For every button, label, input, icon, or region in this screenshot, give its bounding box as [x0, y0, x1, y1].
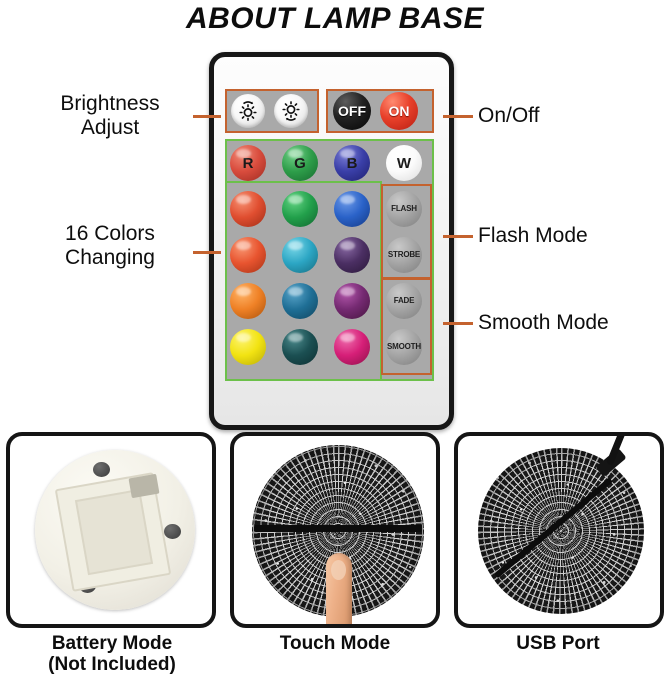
callout-brightness-line2: Adjust	[30, 116, 190, 140]
lead-onoff	[443, 115, 473, 118]
battery-mode-caption-line2: (Not Included)	[0, 655, 224, 676]
power-group-box	[326, 89, 434, 133]
remote-control: OFF ON R G B W FLASH STROBE FADE SMOOTH	[209, 52, 454, 430]
battery-base-image	[35, 450, 195, 610]
usb-port-caption: USB Port	[446, 634, 670, 655]
smooth-group-box	[381, 278, 432, 375]
callout-smooth: Smooth Mode	[478, 311, 609, 335]
callout-flash: Flash Mode	[478, 224, 588, 248]
battery-slot	[75, 489, 153, 575]
callout-onoff: On/Off	[478, 104, 539, 128]
lead-colors	[193, 251, 221, 254]
battery-mode-panel	[6, 432, 216, 628]
callout-colors: 16 Colors Changing	[30, 222, 190, 270]
battery-mode-caption: Battery Mode (Not Included)	[0, 634, 224, 676]
touch-mode-caption: Touch Mode	[223, 634, 447, 655]
lead-brightness	[193, 115, 221, 118]
base-seam	[254, 525, 422, 532]
brightness-group-box	[225, 89, 319, 133]
battery-mode-caption-line1: Battery Mode	[0, 634, 224, 655]
fingernail	[331, 560, 346, 580]
callout-colors-line1: 16 Colors	[30, 222, 190, 246]
colors-group-box-inner	[225, 181, 382, 381]
usb-port-caption-line1: USB Port	[446, 634, 670, 655]
rubber-foot	[164, 524, 181, 539]
touch-mode-caption-line1: Touch Mode	[223, 634, 447, 655]
flash-group-box	[381, 184, 432, 279]
rubber-foot	[93, 462, 110, 477]
touch-mode-panel	[230, 432, 440, 628]
callout-colors-line2: Changing	[30, 246, 190, 270]
page-title: ABOUT LAMP BASE	[0, 2, 670, 36]
lead-flash	[443, 235, 473, 238]
callout-brightness: Brightness Adjust	[30, 92, 190, 140]
lead-smooth	[443, 322, 473, 325]
callout-brightness-line1: Brightness	[30, 92, 190, 116]
base-seam	[494, 477, 613, 578]
usb-base-image	[478, 448, 644, 614]
usb-port-panel	[454, 432, 664, 628]
